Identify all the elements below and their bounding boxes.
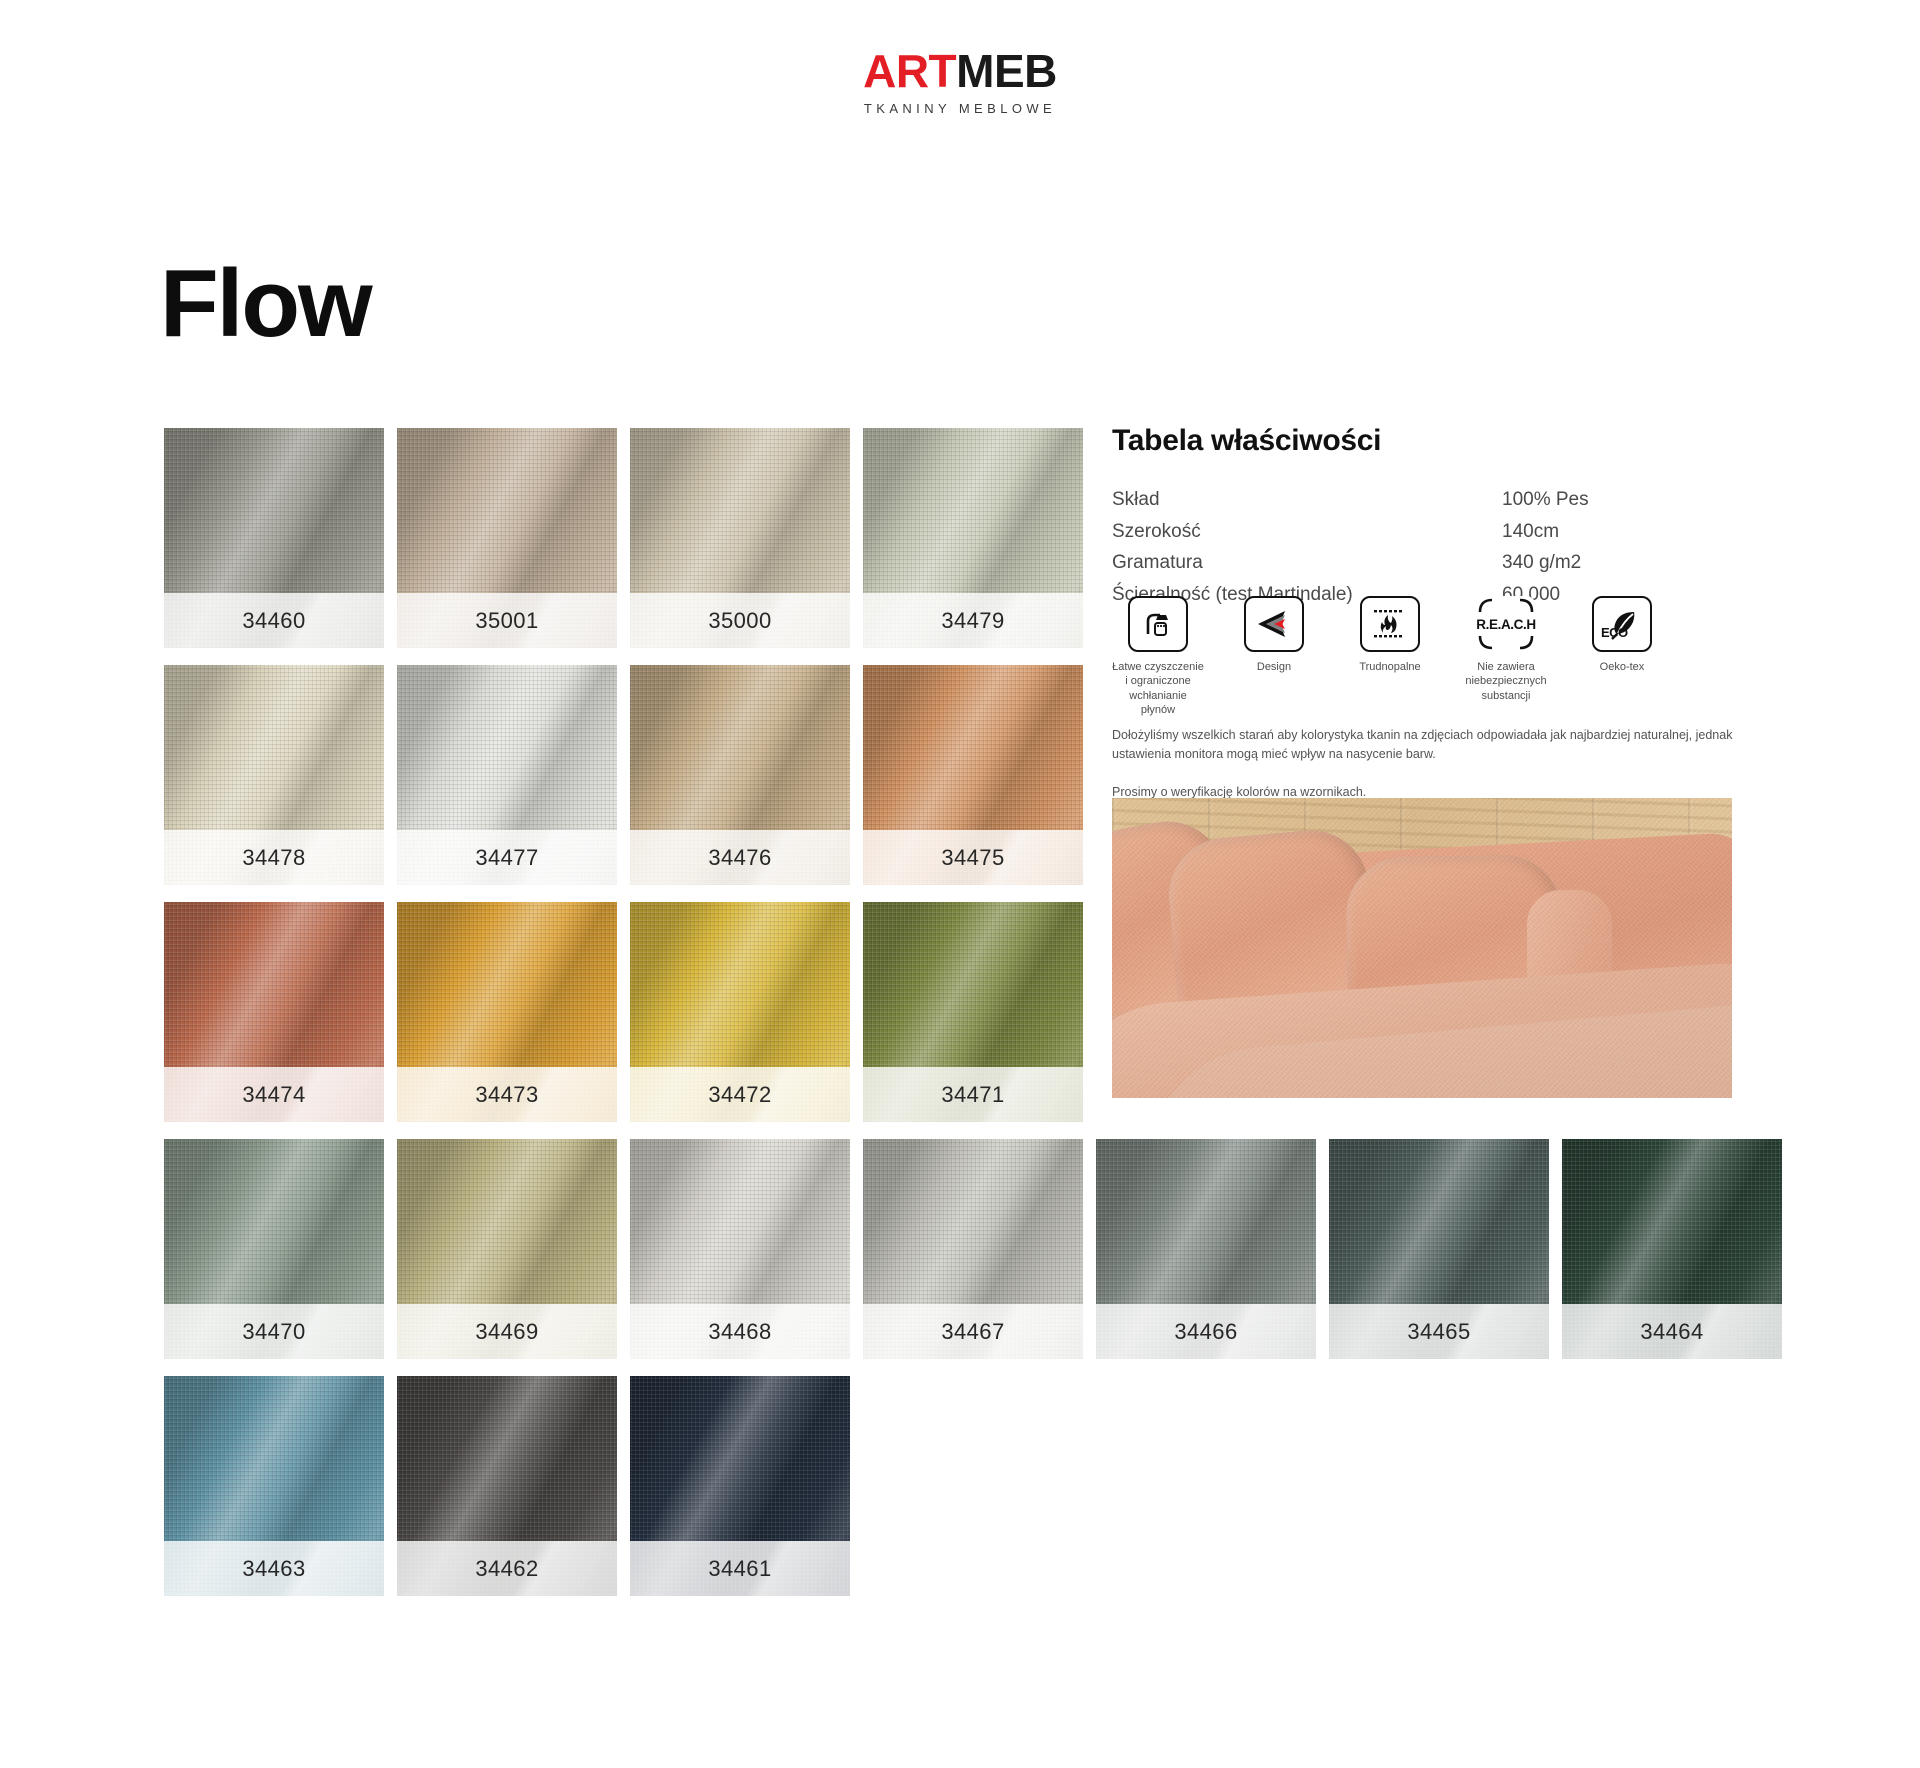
design-icon [1244, 596, 1304, 652]
swatch-code: 34476 [708, 845, 771, 871]
swatch-row-4: 34470 34469 34468 34467 [164, 1139, 1754, 1359]
easy-clean-icon [1128, 596, 1188, 652]
icon-item-design: Design [1228, 596, 1320, 717]
swatch-tile[interactable]: 34469 [397, 1139, 617, 1359]
swatch-tile[interactable]: 34468 [630, 1139, 850, 1359]
icon-caption: Trudnopalne [1344, 660, 1436, 674]
logo-meb-text: MEB [956, 45, 1057, 97]
swatch-label-band: 34476 [630, 830, 850, 885]
eco-label: ECO [1601, 625, 1628, 640]
swatch-label-band: 34475 [863, 830, 1083, 885]
reach-icon: R.E.A.C.H [1476, 596, 1536, 652]
swatch-code: 35001 [475, 608, 538, 634]
swatch-tile[interactable]: 34475 [863, 665, 1083, 885]
property-value: 100% Pes [1502, 484, 1732, 516]
swatch-tile[interactable]: 35001 [397, 428, 617, 648]
swatch-code: 34469 [475, 1319, 538, 1345]
sofa-upholstery-photo [1112, 798, 1732, 1098]
swatch-code: 34465 [1407, 1319, 1470, 1345]
property-label: Gramatura [1112, 547, 1502, 579]
swatch-label-band: 34469 [397, 1304, 617, 1359]
swatch-tile[interactable]: 34460 [164, 428, 384, 648]
flame-retardant-icon [1360, 596, 1420, 652]
swatch-code: 34479 [941, 608, 1004, 634]
page-title: Flow [160, 256, 371, 352]
icon-item-reach: R.E.A.C.H Nie zawiera niebezpiecznych su… [1460, 596, 1552, 717]
swatch-tile[interactable]: 34479 [863, 428, 1083, 648]
swatch-label-band: 34473 [397, 1067, 617, 1122]
swatch-label-band: 34460 [164, 593, 384, 648]
property-value: 140cm [1502, 516, 1732, 548]
properties-panel: Tabela właściwości Skład 100% Pes Szerok… [1112, 424, 1732, 610]
icon-caption: Łatwe czyszczenie i ograniczone wchłania… [1112, 660, 1204, 717]
icon-item-oeko-tex: ECO Oeko-tex [1576, 596, 1668, 717]
swatch-tile[interactable]: 34470 [164, 1139, 384, 1359]
swatch-tile[interactable]: 34467 [863, 1139, 1083, 1359]
swatch-label-band: 34467 [863, 1304, 1083, 1359]
swatch-label-band: 35000 [630, 593, 850, 648]
swatch-row-5: 34463 34462 34461 [164, 1376, 1074, 1596]
logo-art-text: ART [863, 45, 956, 97]
swatch-code: 34473 [475, 1082, 538, 1108]
swatch-tile[interactable]: 34472 [630, 902, 850, 1122]
swatch-code: 34460 [242, 608, 305, 634]
swatch-code: 34471 [941, 1082, 1004, 1108]
swatch-code: 34467 [941, 1319, 1004, 1345]
icon-caption: Nie zawiera niebezpiecznych substancji [1460, 660, 1552, 703]
swatch-tile[interactable]: 34478 [164, 665, 384, 885]
swatch-tile[interactable]: 34471 [863, 902, 1083, 1122]
swatch-label-band: 34463 [164, 1541, 384, 1596]
swatch-label-band: 34464 [1562, 1304, 1782, 1359]
swatch-code: 34462 [475, 1556, 538, 1582]
swatch-row-1: 34460 35001 35000 34479 [164, 428, 1074, 648]
property-label: Szerokość [1112, 516, 1502, 548]
icon-item-flame-retardant: Trudnopalne [1344, 596, 1436, 717]
swatch-label-band: 34472 [630, 1067, 850, 1122]
swatch-label-band: 34471 [863, 1067, 1083, 1122]
swatch-code: 34464 [1640, 1319, 1703, 1345]
property-value: 340 g/m2 [1502, 547, 1732, 579]
icon-item-easy-clean: Łatwe czyszczenie i ograniczone wchłania… [1112, 596, 1204, 717]
swatch-code: 34474 [242, 1082, 305, 1108]
oeko-tex-icon: ECO [1592, 596, 1652, 652]
swatch-code: 34475 [941, 845, 1004, 871]
property-label: Skład [1112, 484, 1502, 516]
swatch-label-band: 34477 [397, 830, 617, 885]
swatch-code: 34472 [708, 1082, 771, 1108]
swatch-tile[interactable]: 34464 [1562, 1139, 1782, 1359]
swatch-label-band: 34470 [164, 1304, 384, 1359]
swatch-code: 34477 [475, 845, 538, 871]
properties-heading: Tabela właściwości [1112, 424, 1732, 458]
properties-table: Skład 100% Pes Szerokość 140cm Gramatura… [1112, 484, 1732, 610]
swatch-tile[interactable]: 34462 [397, 1376, 617, 1596]
swatch-code: 35000 [708, 608, 771, 634]
swatch-label-band: 34468 [630, 1304, 850, 1359]
swatch-tile[interactable]: 34477 [397, 665, 617, 885]
fabric-swatch-grid: 34460 35001 35000 34479 [164, 428, 1074, 1613]
swatch-code: 34463 [242, 1556, 305, 1582]
swatch-tile[interactable]: 34461 [630, 1376, 850, 1596]
swatch-tile[interactable]: 34466 [1096, 1139, 1316, 1359]
swatch-label-band: 34478 [164, 830, 384, 885]
swatch-code: 34478 [242, 845, 305, 871]
table-row: Gramatura 340 g/m2 [1112, 547, 1732, 579]
swatch-tile[interactable]: 34476 [630, 665, 850, 885]
swatch-code: 34466 [1174, 1319, 1237, 1345]
swatch-code: 34470 [242, 1319, 305, 1345]
icon-caption: Oeko-tex [1576, 660, 1668, 674]
swatch-label-band: 35001 [397, 593, 617, 648]
swatch-tile[interactable]: 35000 [630, 428, 850, 648]
brand-logo: ARTMEB TKANINY MEBLOWE [0, 48, 1920, 116]
swatch-row-2: 34478 34477 34476 34475 [164, 665, 1074, 885]
swatch-code: 34461 [708, 1556, 771, 1582]
swatch-label-band: 34474 [164, 1067, 384, 1122]
certification-icon-row: Łatwe czyszczenie i ograniczone wchłania… [1112, 596, 1752, 717]
swatch-tile[interactable]: 34465 [1329, 1139, 1549, 1359]
swatch-code: 34468 [708, 1319, 771, 1345]
swatch-tile[interactable]: 34473 [397, 902, 617, 1122]
swatch-label-band: 34466 [1096, 1304, 1316, 1359]
swatch-tile[interactable]: 34474 [164, 902, 384, 1122]
swatch-label-band: 34462 [397, 1541, 617, 1596]
disclaimer-paragraph-1: Dołożyliśmy wszelkich starań aby kolorys… [1112, 726, 1737, 765]
logo-tagline: TKANINY MEBLOWE [0, 101, 1920, 116]
logo-wordmark: ARTMEB [0, 48, 1920, 94]
table-row: Skład 100% Pes [1112, 484, 1732, 516]
swatch-tile[interactable]: 34463 [164, 1376, 384, 1596]
table-row: Szerokość 140cm [1112, 516, 1732, 548]
swatch-label-band: 34465 [1329, 1304, 1549, 1359]
swatch-label-band: 34461 [630, 1541, 850, 1596]
swatch-row-3: 34474 34473 34472 34471 [164, 902, 1074, 1122]
swatch-label-band: 34479 [863, 593, 1083, 648]
icon-caption: Design [1228, 660, 1320, 674]
